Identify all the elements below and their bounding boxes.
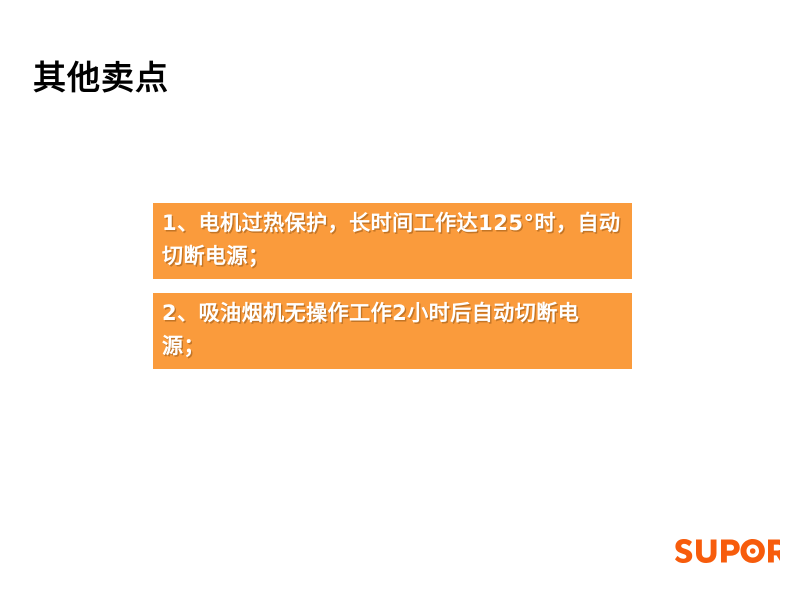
supor-logo-icon: [672, 538, 780, 568]
callout-box-2: 2、吸油烟机无操作工作2小时后自动切断电源；: [153, 293, 632, 369]
callout-text-2: 2、吸油烟机无操作工作2小时后自动切断电源；: [162, 297, 622, 363]
page-title: 其他卖点: [33, 57, 169, 99]
callout-list: 1、电机过热保护，长时间工作达125°时，自动切断电源； 2、吸油烟机无操作工作…: [153, 203, 632, 369]
slide-canvas: 其他卖点 1、电机过热保护，长时间工作达125°时，自动切断电源； 2、吸油烟机…: [0, 0, 790, 593]
callout-text-1: 1、电机过热保护，长时间工作达125°时，自动切断电源；: [162, 207, 622, 273]
supor-logo: SUPOR: [672, 538, 780, 568]
callout-box-1: 1、电机过热保护，长时间工作达125°时，自动切断电源；: [153, 203, 632, 279]
